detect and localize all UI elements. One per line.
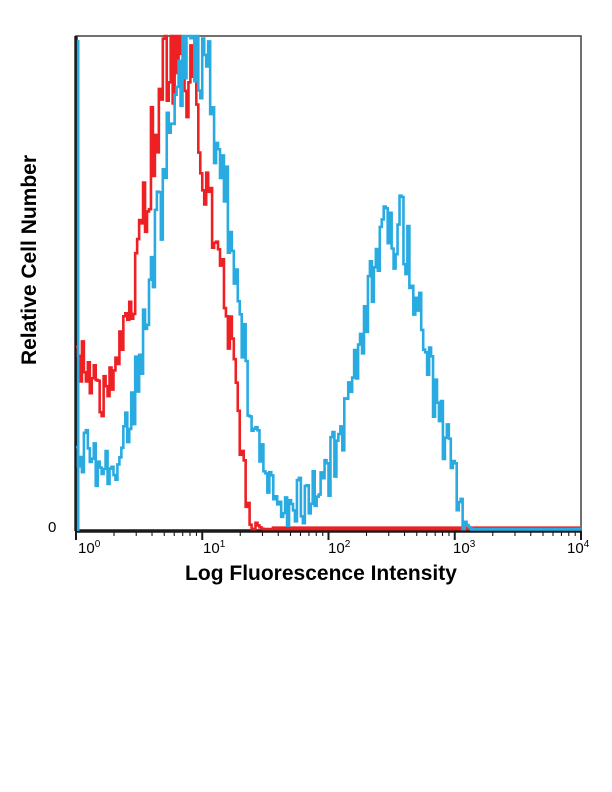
flow-cytometry-histogram-figure: Relative Cell Number 0 100 101 102 103 1… [0,0,612,792]
x-axis-title: Log Fluorescence Intensity [60,562,582,586]
plot-area [0,0,612,792]
